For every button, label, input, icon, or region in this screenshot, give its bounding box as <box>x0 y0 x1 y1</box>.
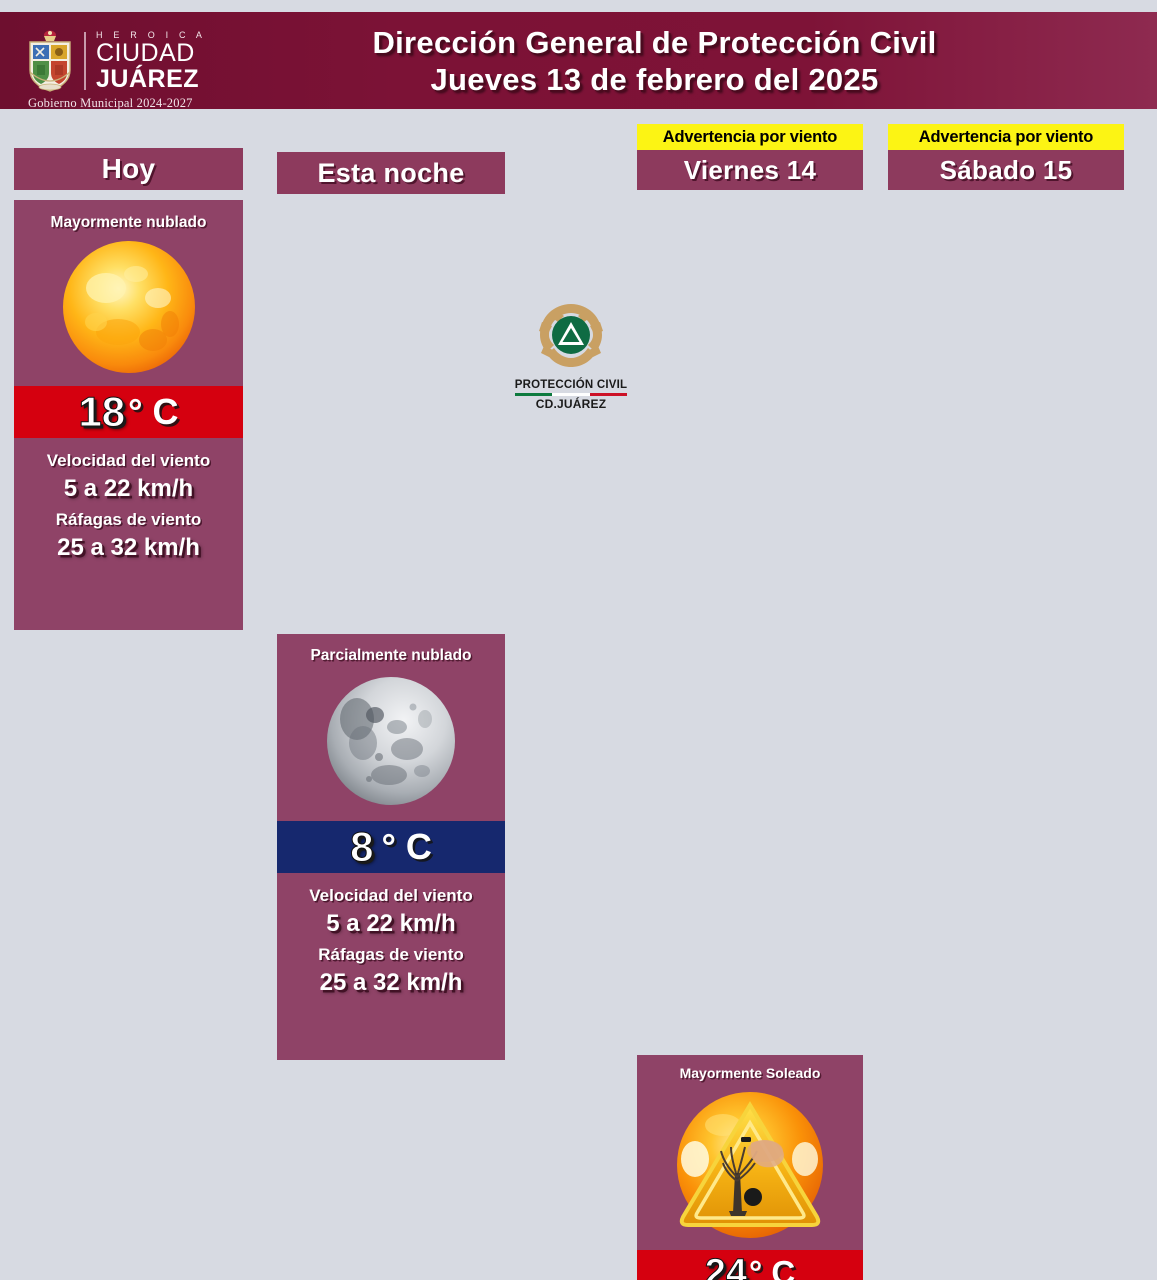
forecast-card-sabado: Advertencia por viento Sábado 15 <box>888 124 1124 190</box>
wind-speed-value: 5 a 22 km/h <box>64 475 193 503</box>
moon-icon <box>321 671 461 811</box>
forecast-card-viernes: Advertencia por viento Viernes 14 <box>637 124 863 190</box>
proteccion-civil-aztec-emblem-icon <box>534 302 608 372</box>
ciudad-juarez-coat-of-arms-icon <box>22 28 78 94</box>
low-temperature-unit: ° C <box>381 826 431 868</box>
day-label: Hoy <box>102 153 156 185</box>
condition-text: Mayormente Soleado <box>680 1065 821 1081</box>
forecast-card-esta-noche: Esta noche <box>277 152 505 194</box>
brand-divider <box>84 32 86 90</box>
day-label: Viernes 14 <box>684 155 817 186</box>
logo-title: PROTECCIÓN CIVIL <box>507 379 635 391</box>
wind-gust-value: 25 a 32 km/h <box>57 534 200 562</box>
sun-with-wind-warning-icon <box>665 1081 835 1249</box>
brand-gobierno-municipal: Gobierno Municipal 2024-2027 <box>28 96 193 111</box>
wind-speed-label: Velocidad del viento <box>47 451 210 471</box>
wind-gust-value: 25 a 32 km/h <box>320 969 463 997</box>
wind-warning-badge: Advertencia por viento <box>888 124 1124 150</box>
brand-ciudad: CIUDAD <box>96 41 206 66</box>
high-temperature-band: 18 ° C <box>14 386 243 438</box>
wind-speed-label: Velocidad del viento <box>309 886 472 906</box>
page-title-line2: Jueves 13 de febrero del 2025 <box>222 61 1087 98</box>
low-temperature-value: 8 <box>350 823 373 871</box>
condition-text: Parcialmente nublado <box>310 647 471 665</box>
page-title-line1: Dirección General de Protección Civil <box>222 24 1087 61</box>
day-label-bar: Hoy <box>14 148 243 190</box>
page-header: H E R O I C A CIUDAD JUÁREZ Gobierno Mun… <box>0 12 1157 109</box>
forecast-body-viernes: Mayormente Soleado <box>637 1055 863 1280</box>
logo-subtitle: CD.JUÁREZ <box>507 397 635 411</box>
wind-gust-label: Ráfagas de viento <box>56 510 202 530</box>
mexican-flag-divider <box>515 393 627 396</box>
proteccion-civil-logo: PROTECCIÓN CIVIL CD.JUÁREZ <box>507 302 635 411</box>
brand-wordmark: H E R O I C A CIUDAD JUÁREZ <box>96 30 206 92</box>
day-label: Esta noche <box>317 158 464 189</box>
day-label-bar: Sábado 15 <box>888 150 1124 190</box>
wind-speed-value: 5 a 22 km/h <box>326 910 455 938</box>
high-temperature-unit: ° C <box>749 1254 795 1280</box>
brand-juarez: JUÁREZ <box>96 66 206 92</box>
city-brand: H E R O I C A CIUDAD JUÁREZ Gobierno Mun… <box>0 12 222 109</box>
forecast-body-hoy: Mayormente nublado 18 ° C Velocidad del … <box>14 200 243 630</box>
day-label: Sábado 15 <box>940 155 1073 186</box>
page-title: Dirección General de Protección Civil Ju… <box>222 24 1157 98</box>
high-temperature-band: 24 ° C <box>637 1250 863 1280</box>
sun-icon <box>58 236 200 378</box>
wind-warning-badge: Advertencia por viento <box>637 124 863 150</box>
day-label-bar: Esta noche <box>277 152 505 194</box>
forecast-body-esta-noche: Parcialmente nublado 8 ° C Velocidad del… <box>277 634 505 1060</box>
forecast-card-hoy: Hoy <box>14 148 243 190</box>
high-temperature-value: 24 <box>705 1252 747 1280</box>
condition-text: Mayormente nublado <box>51 214 207 232</box>
day-label-bar: Viernes 14 <box>637 150 863 190</box>
wind-gust-label: Ráfagas de viento <box>318 945 464 965</box>
high-temperature-unit: ° C <box>128 391 178 433</box>
high-temperature-value: 18 <box>78 388 125 436</box>
low-temperature-band: 8 ° C <box>277 821 505 873</box>
